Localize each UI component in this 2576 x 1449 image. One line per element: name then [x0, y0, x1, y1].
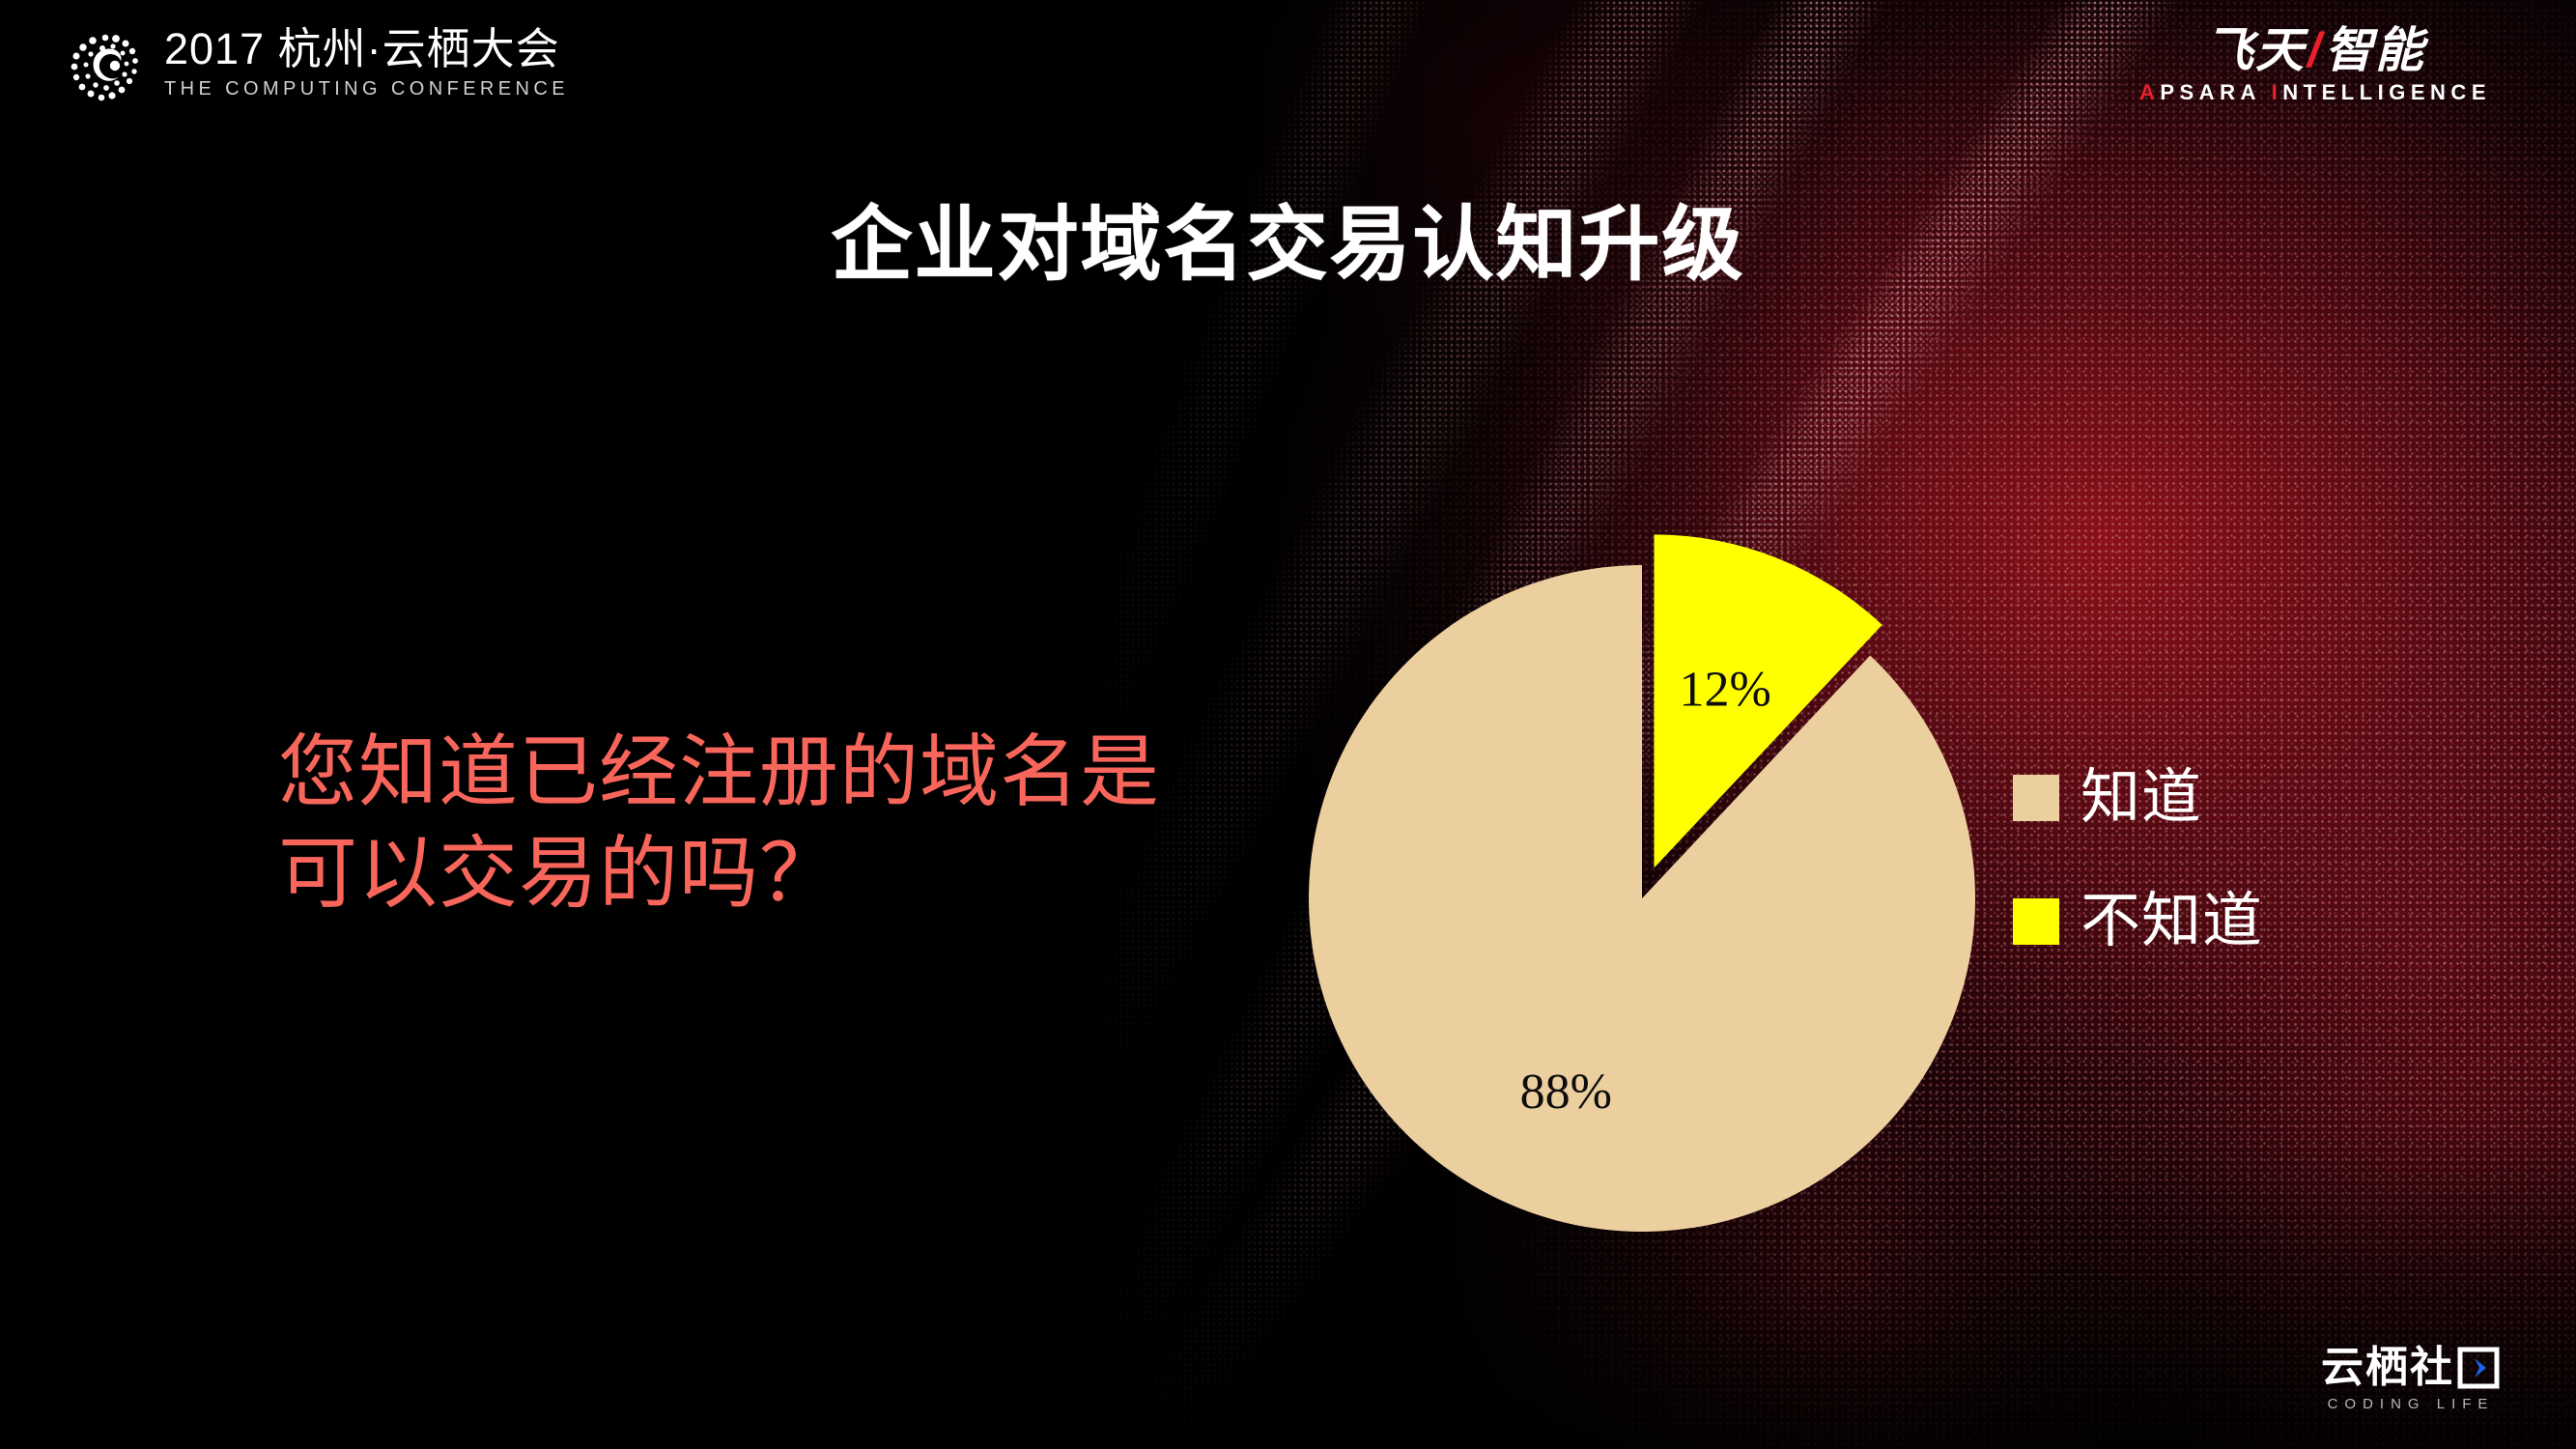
apsara-cn-left: 飞天	[2205, 23, 2306, 77]
pie-chart: 88% 12%	[1270, 502, 2024, 1294]
yunqi-logo-cn: 云栖社	[2321, 1346, 2501, 1390]
apsara-en-rest: NTELLIGENCE	[2282, 80, 2491, 104]
slide-canvas: 2017 杭州·云栖大会 THE COMPUTING CONFERENCE 飞天…	[0, 0, 2576, 1449]
apsara-intelligence-logo: 飞天/智能 APSARA INTELLIGENCE	[2139, 25, 2491, 105]
apsara-en-a: A	[2139, 80, 2160, 104]
legend-swatch-doesnt-know	[2013, 898, 2059, 945]
apsara-logo-en: APSARA INTELLIGENCE	[2139, 80, 2491, 105]
conference-logo-subtitle: THE COMPUTING CONFERENCE	[164, 78, 569, 100]
pie-label-minor: 12%	[1680, 662, 1771, 717]
legend-swatch-knows	[2013, 775, 2059, 821]
pie-slice-knows	[1309, 565, 1975, 1232]
legend-label-doesnt-know: 不知道	[2081, 892, 2263, 952]
legend-item-doesnt-know[interactable]: 不知道	[2013, 892, 2263, 952]
apsara-en-psara: PSARA	[2160, 80, 2271, 104]
apsara-en-i: I	[2272, 80, 2283, 104]
yunqi-logo-en: CODING LIFE	[2321, 1396, 2501, 1412]
question-text: 您知道已经注册的域名是可以交易的吗？	[278, 723, 1205, 925]
apsara-cn-right: 智能	[2325, 23, 2425, 77]
chart-legend: 知道 不知道	[2013, 768, 2263, 952]
yunqi-community-logo: 云栖社 CODING LIFE	[2321, 1346, 2501, 1412]
conference-logo-title: 2017 杭州·云栖大会	[164, 26, 569, 71]
apsara-logo-cn: 飞天/智能	[2139, 25, 2491, 76]
dotted-c-logo-icon	[68, 30, 143, 105]
conference-logo: 2017 杭州·云栖大会 THE COMPUTING CONFERENCE	[68, 26, 569, 105]
page-title: 企业对域名交易认知升级	[0, 180, 2576, 297]
pie-label-major: 88%	[1520, 1065, 1612, 1120]
apsara-slash-icon: /	[2306, 23, 2325, 77]
yunqi-cn-text: 云栖社	[2321, 1346, 2454, 1390]
legend-item-knows[interactable]: 知道	[2013, 768, 2263, 828]
legend-label-knows: 知道	[2081, 768, 2202, 828]
yunqi-arrow-icon	[2456, 1346, 2501, 1390]
